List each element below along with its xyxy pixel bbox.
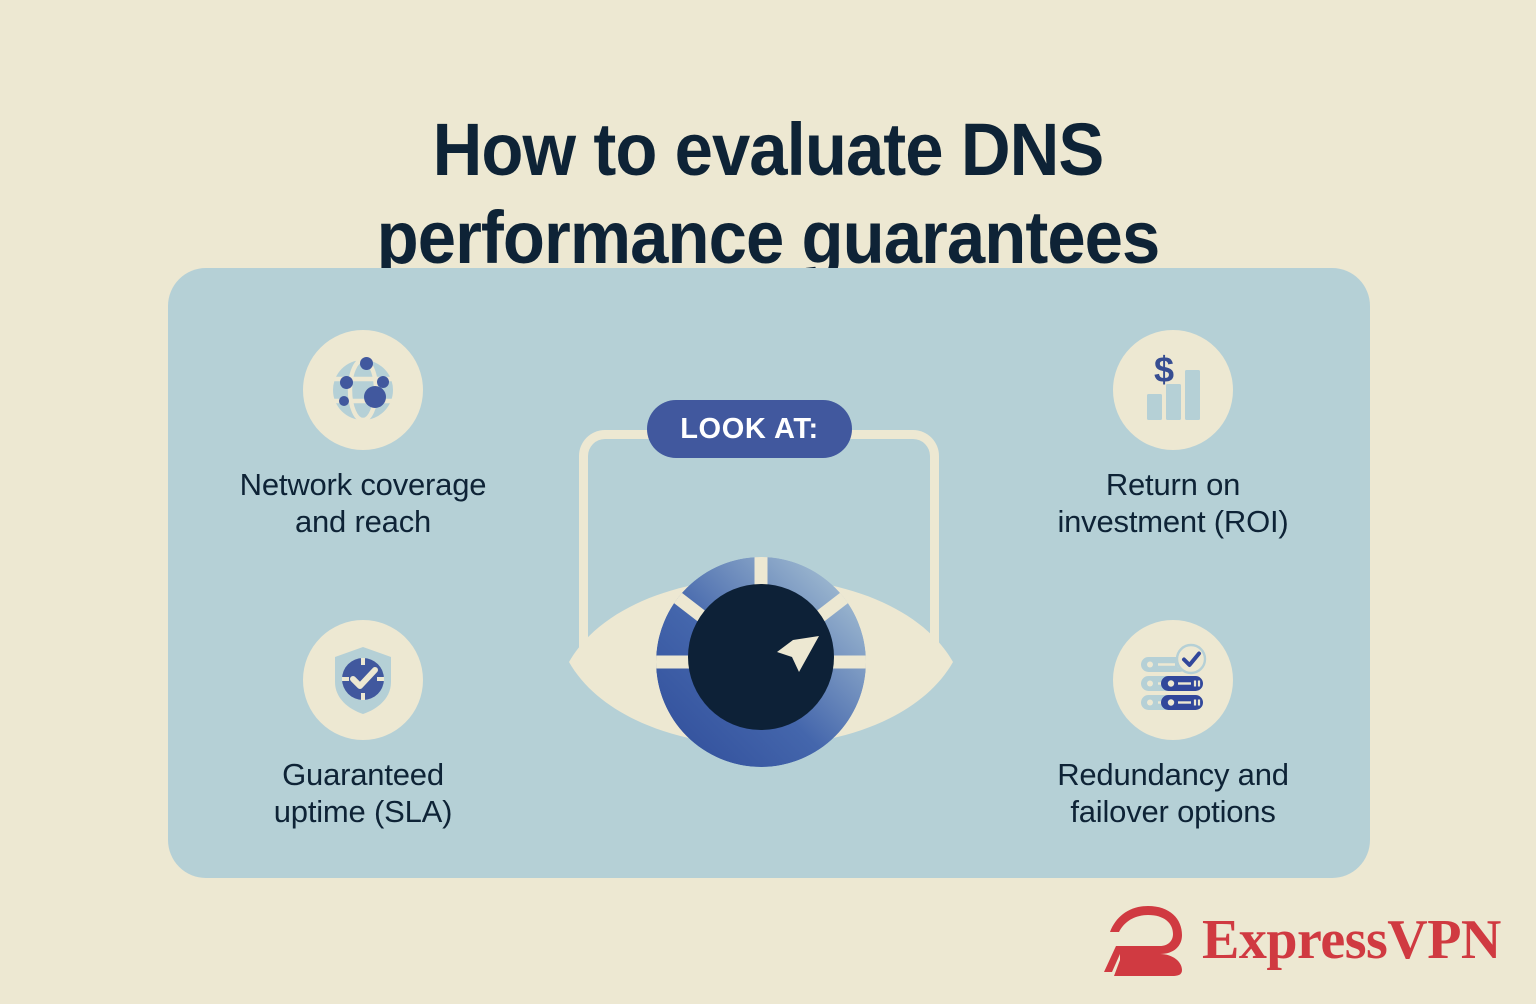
infographic-canvas: How to evaluate DNS performance guarante…: [0, 0, 1536, 1004]
eye-with-cursor-icon: [561, 502, 961, 807]
dollar-bar-chart-icon: $: [1113, 330, 1233, 450]
feature-return-on-investment: $ Return on investment (ROI): [1008, 330, 1338, 540]
feature-label: Redundancy and failover options: [1008, 756, 1338, 830]
shield-clock-check-icon: [303, 620, 423, 740]
expressvpn-e-mark-icon: [1102, 902, 1188, 978]
feature-label-line-1: Redundancy and: [1057, 757, 1289, 792]
svg-text:$: $: [1154, 352, 1174, 390]
expressvpn-wordmark: ExpressVPN: [1202, 912, 1501, 968]
feature-label-line-2: investment (ROI): [1057, 504, 1288, 539]
feature-label-line-2: failover options: [1070, 794, 1275, 829]
look-at-badge: LOOK AT:: [647, 400, 852, 458]
globe-network-icon: [303, 330, 423, 450]
feature-label-line-2: uptime (SLA): [274, 794, 453, 829]
feature-label: Network coverage and reach: [198, 466, 528, 540]
feature-guaranteed-uptime: Guaranteed uptime (SLA): [198, 620, 528, 830]
page-title: How to evaluate DNS performance guarante…: [54, 106, 1482, 282]
feature-label: Return on investment (ROI): [1008, 466, 1338, 540]
feature-label: Guaranteed uptime (SLA): [198, 756, 528, 830]
feature-label-line-1: Guaranteed: [282, 757, 444, 792]
page-title-line-1: How to evaluate DNS: [54, 106, 1482, 194]
expressvpn-logo: ExpressVPN: [1102, 902, 1501, 978]
feature-redundancy-failover: Redundancy and failover options: [1008, 620, 1338, 830]
feature-network-coverage: Network coverage and reach: [198, 330, 528, 540]
feature-label-line-1: Network coverage: [240, 467, 487, 502]
content-card: Network coverage and reach: [168, 268, 1370, 878]
feature-label-line-2: and reach: [295, 504, 431, 539]
feature-label-line-1: Return on: [1106, 467, 1240, 502]
server-stack-check-icon: [1113, 620, 1233, 740]
center-cluster: LOOK AT:: [569, 418, 969, 838]
